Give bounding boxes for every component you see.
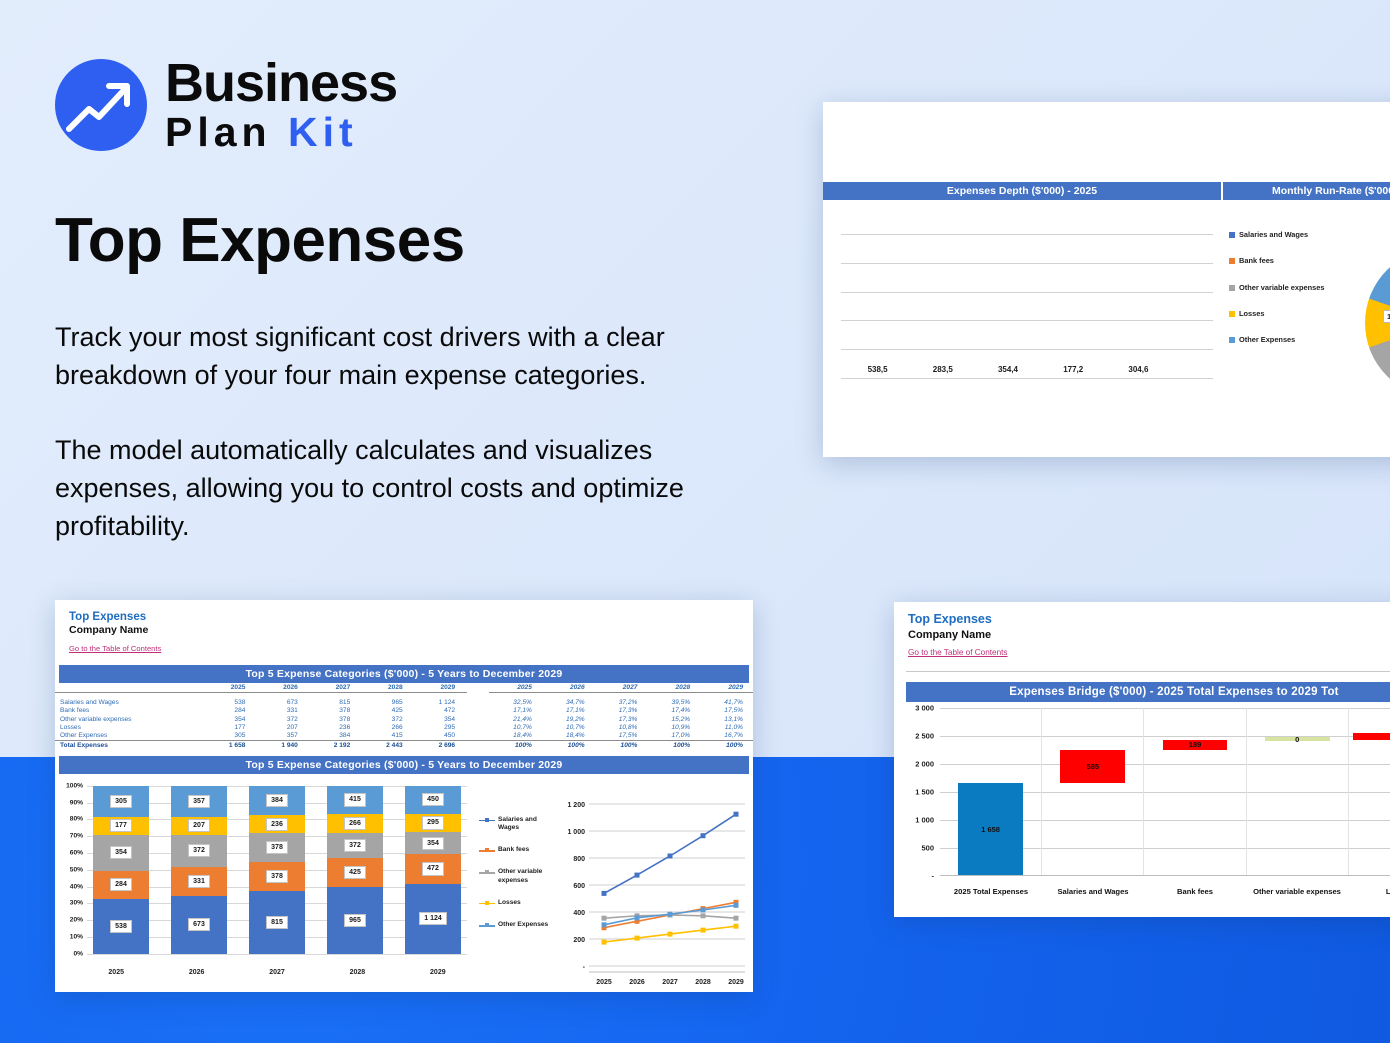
segment-label: 815	[266, 916, 288, 929]
legend-item: Other variable expenses	[1229, 283, 1339, 292]
growth-arrow-icon	[55, 59, 147, 151]
legend-label: Other variable expenses	[1239, 283, 1324, 292]
table-row: Salaries and Wages 538 673 815 965 1 124…	[55, 698, 753, 706]
total-value: 1 658	[205, 741, 257, 750]
bar-series: 538,5 283,5 354,4 177,2 304,6	[845, 234, 1171, 378]
cell-pct: 10,9%	[647, 723, 700, 731]
y-tick: 1 500	[915, 787, 934, 796]
x-tick: 2025	[596, 979, 612, 986]
legend-label: Other variable expenses	[498, 868, 549, 884]
x-tick: 2027	[662, 979, 678, 986]
legend-item: Salaries and Wages	[479, 816, 549, 832]
y-tick: -	[932, 871, 935, 880]
col-pct-2028: 2028	[647, 683, 700, 692]
segment-label: 384	[266, 794, 288, 807]
x-tick: 2028	[695, 979, 711, 986]
total-value: 2 443	[362, 741, 414, 750]
col-year-2028: 2028	[362, 683, 414, 692]
expenses-depth-sheet: Expenses Depth ($'000) - 2025 Monthly Ru…	[823, 102, 1390, 457]
stacked-x-axis: 2025 2026 2027 2028 2029	[87, 969, 467, 976]
sheet-title: Top Expenses	[908, 612, 1390, 628]
segment-label: 372	[188, 844, 210, 857]
cell-value: 207	[257, 723, 309, 731]
waterfall-bar-salaries: 585	[1042, 708, 1144, 876]
x-tick: 2028	[328, 969, 386, 976]
sheet-company-name: Company Name	[69, 624, 739, 638]
y-tick: -	[583, 964, 586, 971]
y-tick: 20%	[70, 917, 83, 924]
y-tick: 2 500	[915, 731, 934, 740]
segment-label: 673	[188, 918, 210, 931]
col-pct-2025: 2025	[489, 683, 542, 692]
col-pct-2029: 2029	[700, 683, 753, 692]
y-tick: 200	[573, 937, 585, 944]
waterfall-bar-other-variable: 0	[1247, 708, 1349, 876]
row-label: Losses	[55, 723, 205, 731]
sheet-header: Top Expenses Company Name Go to the Tabl…	[55, 600, 753, 658]
bridge-x-axis: 2025 Total Expenses Salaries and Wages B…	[940, 887, 1390, 896]
legend-label: Salaries and Wages	[1239, 230, 1308, 239]
brand-line-2-accent: Kit	[288, 109, 358, 155]
legend-item: Bank fees	[1229, 256, 1339, 265]
y-tick: 400	[573, 910, 585, 917]
segment-label: 378	[266, 841, 288, 854]
line-plot-svg: - 200 400 600 800 1 000 1 200	[549, 786, 749, 992]
cell-pct: 39,5%	[647, 698, 700, 706]
stacked-column-2026: 357 207 372 331 673	[171, 786, 227, 954]
total-value: 2 192	[310, 741, 362, 750]
total-pct: 100%	[647, 741, 700, 750]
bridge-y-axis: - 500 1 000 1 500 2 000 2 500 3 000	[894, 708, 938, 876]
cell-pct: 17,3%	[595, 715, 648, 723]
total-pct: 100%	[595, 741, 648, 750]
bridge-band-title: Expenses Bridge ($'000) - 2025 Total Exp…	[906, 682, 1390, 702]
legend-swatch-icon	[1229, 232, 1235, 238]
total-pct: 100%	[700, 741, 753, 750]
legend-label: Bank fees	[1239, 256, 1274, 265]
row-label: Salaries and Wages	[55, 698, 205, 706]
monthly-run-rate-pie-chart: 25,4 14,8 29,5 23	[1343, 206, 1390, 396]
legend-item: Losses	[479, 899, 549, 907]
stacked-columns: 305 177 354 284 538 357 207 372 331 673	[93, 786, 461, 954]
legend-item: Other Expenses	[479, 921, 549, 929]
total-pct: 100%	[489, 741, 542, 750]
legend-item: Bank fees	[479, 846, 549, 854]
segment-label: 236	[266, 818, 288, 831]
description-paragraph-1: Track your most significant cost drivers…	[55, 318, 735, 395]
cell-value: 266	[362, 723, 414, 731]
segment-label: 538	[110, 920, 132, 933]
legend-item: Salaries and Wages	[1229, 230, 1339, 239]
segment-label: 331	[188, 875, 210, 888]
cell-pct: 18,4%	[542, 732, 595, 741]
sheet-header: Top Expenses Company Name Go to the Tabl…	[894, 602, 1390, 662]
cell-pct: 17,0%	[647, 732, 700, 741]
cell-pct: 19,2%	[542, 715, 595, 723]
total-pct: 100%	[542, 741, 595, 750]
cell-pct: 17,4%	[647, 707, 700, 715]
y-tick: 40%	[70, 883, 83, 890]
cell-value: 415	[362, 732, 414, 741]
segment-label: 415	[344, 793, 366, 806]
x-tick: 2025	[87, 969, 145, 976]
cell-value: 1 124	[415, 698, 467, 706]
legend-line-icon	[479, 900, 495, 907]
page-title: Top Expenses	[55, 205, 465, 276]
x-tick: Losses	[1348, 887, 1390, 896]
cell-value: 372	[257, 715, 309, 723]
legend-swatch-icon	[1229, 258, 1235, 264]
cell-pct: 13,1%	[700, 715, 753, 723]
legend-line-icon	[479, 869, 495, 876]
legend-line-icon	[479, 847, 495, 854]
total-value: 2 696	[415, 741, 467, 750]
stacked-column-2028: 415 266 372 425 965	[327, 786, 383, 954]
y-tick: 10%	[70, 933, 83, 940]
cell-pct: 37,2%	[595, 698, 648, 706]
legend-item: Other Expenses	[1229, 335, 1339, 344]
y-tick: 50%	[70, 866, 83, 873]
bar-value-label: 283,5	[910, 365, 975, 374]
stacked-bar-chart: 0% 10% 20% 30% 40% 50% 60% 70% 80% 90% 1…	[55, 778, 475, 984]
row-label: Other variable expenses	[55, 715, 205, 723]
cell-pct: 21,4%	[489, 715, 542, 723]
segment-label: 177	[110, 819, 132, 832]
bar-value-label: 585	[1087, 762, 1100, 771]
stacked-plot-area: 305 177 354 284 538 357 207 372 331 673	[87, 786, 467, 954]
table-of-contents-link[interactable]: Go to the Table of Contents	[908, 648, 1008, 657]
line-chart-legend: Salaries and Wages Bank fees Other varia…	[475, 786, 549, 984]
cell-value: 538	[205, 698, 257, 706]
brand-line-2-dark: Plan	[165, 109, 272, 155]
description-paragraph-2: The model automatically calculates and v…	[55, 431, 735, 546]
legend-line-icon	[479, 817, 495, 824]
y-tick: 3 000	[915, 703, 934, 712]
bar-value-label: 354,4	[975, 365, 1040, 374]
y-tick: 800	[573, 856, 585, 863]
cell-value: 450	[415, 732, 467, 741]
axis-baseline	[940, 875, 1390, 876]
cell-value: 354	[205, 715, 257, 723]
legend-label: Bank fees	[498, 846, 529, 854]
stacked-column-2027: 384 236 378 378 815	[249, 786, 305, 954]
cell-pct: 10,8%	[595, 723, 648, 731]
cell-pct: 10,7%	[542, 723, 595, 731]
x-tick: Salaries and Wages	[1042, 887, 1144, 896]
bar-value-label: 304,6	[1106, 365, 1171, 374]
y-tick: 80%	[70, 816, 83, 823]
table-row: Other Expenses 305 357 384 415 450 18,4%…	[55, 732, 753, 741]
y-tick: 0%	[73, 950, 83, 957]
legend-swatch-icon	[1229, 337, 1235, 343]
legend-item: Other variable expenses	[479, 868, 549, 884]
cell-value: 378	[310, 715, 362, 723]
cell-value: 673	[257, 698, 309, 706]
segment-label: 284	[110, 878, 132, 891]
bar-value-label: 189	[1189, 740, 1202, 749]
y-tick: 1 000	[567, 829, 585, 836]
expenses-bridge-waterfall-chart: - 500 1 000 1 500 2 000 2 500 3 000 1 65…	[894, 708, 1390, 898]
table-header-row: 2025 2026 2027 2028 2029 2025 2026 2027 …	[55, 683, 753, 692]
expense-categories-sheet: Top Expenses Company Name Go to the Tabl…	[55, 600, 753, 992]
x-tick: 2027	[248, 969, 306, 976]
expenses-depth-legend: Salaries and Wages Bank fees Other varia…	[1223, 206, 1343, 396]
cell-pct: 17,5%	[700, 707, 753, 715]
row-label: Bank fees	[55, 707, 205, 715]
description-block: Track your most significant cost drivers…	[55, 318, 735, 546]
cell-value: 384	[310, 732, 362, 741]
bar-value-label: 538,5	[845, 365, 910, 374]
cell-pct: 17,3%	[595, 707, 648, 715]
legend-item: Losses	[1229, 309, 1339, 318]
x-tick: 2026	[629, 979, 645, 986]
cell-pct: 34,7%	[542, 698, 595, 706]
legend-swatch-icon	[1229, 311, 1235, 317]
cell-pct: 16,7%	[700, 732, 753, 741]
total-label: Total Expenses	[55, 741, 205, 750]
cell-pct: 32,5%	[489, 698, 542, 706]
stacked-column-2025: 305 177 354 284 538	[93, 786, 149, 954]
legend-label: Losses	[1239, 309, 1264, 318]
cell-value: 236	[310, 723, 362, 731]
brand-logo: Business Plan Kit	[55, 56, 397, 153]
x-tick: Bank fees	[1144, 887, 1246, 896]
col-year-2027: 2027	[310, 683, 362, 692]
cell-pct: 15,2%	[647, 715, 700, 723]
y-tick: 90%	[70, 799, 83, 806]
x-tick: 2029	[409, 969, 467, 976]
col-year-2025: 2025	[205, 683, 257, 692]
segment-label: 1 124	[419, 912, 447, 925]
y-tick: 60%	[70, 849, 83, 856]
pie-label-losses: 14,8	[1383, 310, 1390, 323]
cell-pct: 17,1%	[542, 707, 595, 715]
y-tick: 1 200	[567, 802, 585, 809]
col-pct-2026: 2026	[542, 683, 595, 692]
bar-value-label: 0	[1295, 735, 1299, 744]
monthly-run-rate-chart-title: Monthly Run-Rate ($'000	[1223, 182, 1390, 200]
table-of-contents-link[interactable]: Go to the Table of Contents	[69, 644, 161, 653]
waterfall-columns: 1 658 585 189 0 11	[940, 708, 1390, 876]
waterfall-bar-2025-total: 1 658	[940, 708, 1042, 876]
segment-label: 207	[188, 819, 210, 832]
sheet-title: Top Expenses	[69, 610, 739, 624]
table-row: Losses 177 207 236 266 295 10,7% 10,7% 1…	[55, 723, 753, 731]
legend-label: Other Expenses	[498, 921, 548, 929]
row-label: Other Expenses	[55, 732, 205, 741]
cell-value: 425	[362, 707, 414, 715]
legend-label: Losses	[498, 899, 521, 907]
col-year-2029: 2029	[415, 683, 467, 692]
legend-swatch-icon	[1229, 285, 1235, 291]
cell-pct: 11,0%	[700, 723, 753, 731]
bar-value-label: 177,2	[1041, 365, 1106, 374]
y-tick: 30%	[70, 900, 83, 907]
col-pct-2027: 2027	[595, 683, 648, 692]
cell-value: 295	[415, 723, 467, 731]
cell-value: 357	[257, 732, 309, 741]
y-tick: 70%	[70, 833, 83, 840]
segment-label: 472	[422, 862, 444, 875]
table-row: Other variable expenses 354 372 378 372 …	[55, 715, 753, 723]
line-plot-area: - 200 400 600 800 1 000 1 200	[549, 786, 749, 984]
segment-label: 266	[344, 817, 366, 830]
cell-value: 815	[310, 698, 362, 706]
segment-label: 425	[344, 866, 366, 879]
expense-categories-table: 2025 2026 2027 2028 2029 2025 2026 2027 …	[55, 683, 753, 750]
y-tick: 600	[573, 883, 585, 890]
cell-value: 305	[205, 732, 257, 741]
header-divider	[906, 671, 1390, 672]
y-tick: 100%	[66, 782, 83, 789]
legend-line-icon	[479, 922, 495, 929]
segment-label: 354	[422, 837, 444, 850]
stacked-y-axis: 0% 10% 20% 30% 40% 50% 60% 70% 80% 90% 1…	[57, 786, 85, 954]
cell-pct: 18,4%	[489, 732, 542, 741]
waterfall-bar-losses: 11	[1349, 708, 1390, 876]
x-tick: 2026	[167, 969, 225, 976]
cell-value: 354	[415, 715, 467, 723]
bar-value-label: 1 658	[981, 825, 1000, 834]
x-tick: Other variable expenses	[1246, 887, 1348, 896]
brand-line-1: Business	[165, 56, 397, 110]
segment-label: 357	[188, 795, 210, 808]
cell-pct: 10,7%	[489, 723, 542, 731]
x-tick: 2025 Total Expenses	[940, 887, 1042, 896]
cell-value: 284	[205, 707, 257, 715]
y-tick: 500	[921, 843, 934, 852]
segment-label: 450	[422, 793, 444, 806]
segment-label: 965	[344, 914, 366, 927]
expense-table-band-title: Top 5 Expense Categories ($'000) - 5 Yea…	[59, 665, 749, 683]
legend-label: Salaries and Wages	[498, 816, 549, 832]
cell-value: 372	[362, 715, 414, 723]
expense-chart-band-title: Top 5 Expense Categories ($'000) - 5 Yea…	[59, 756, 749, 774]
segment-label: 378	[266, 870, 288, 883]
y-tick: 1 000	[915, 815, 934, 824]
cell-value: 472	[415, 707, 467, 715]
segment-label: 354	[110, 846, 132, 859]
y-tick: 2 000	[915, 759, 934, 768]
x-tick: 2029	[728, 979, 744, 986]
cell-pct: 17,1%	[489, 707, 542, 715]
table-row: Bank fees 284 331 378 425 472 17,1% 17,1…	[55, 707, 753, 715]
cell-value: 965	[362, 698, 414, 706]
waterfall-bar-bank-fees: 189	[1144, 708, 1246, 876]
col-year-2026: 2026	[257, 683, 309, 692]
cell-value: 331	[257, 707, 309, 715]
cell-value: 378	[310, 707, 362, 715]
segment-label: 305	[110, 795, 132, 808]
segment-label: 295	[422, 816, 444, 829]
cell-pct: 17,5%	[595, 732, 648, 741]
sheet-company-name: Company Name	[908, 628, 1390, 642]
segment-label: 372	[344, 839, 366, 852]
stacked-column-2029: 450 295 354 472 1 124	[405, 786, 461, 954]
total-value: 1 940	[257, 741, 309, 750]
expense-trend-line-chart: Salaries and Wages Bank fees Other varia…	[475, 778, 753, 984]
legend-label: Other Expenses	[1239, 335, 1295, 344]
table-total-row: Total Expenses 1 658 1 940 2 192 2 443 2…	[55, 741, 753, 750]
expenses-depth-bar-chart: 538,5 283,5 354,4 177,2 304,6	[823, 206, 1223, 396]
expenses-depth-chart-title: Expenses Depth ($'000) - 2025	[823, 182, 1223, 200]
cell-pct: 41,7%	[700, 698, 753, 706]
expenses-bridge-sheet: Top Expenses Company Name Go to the Tabl…	[894, 602, 1390, 917]
cell-value: 177	[205, 723, 257, 731]
